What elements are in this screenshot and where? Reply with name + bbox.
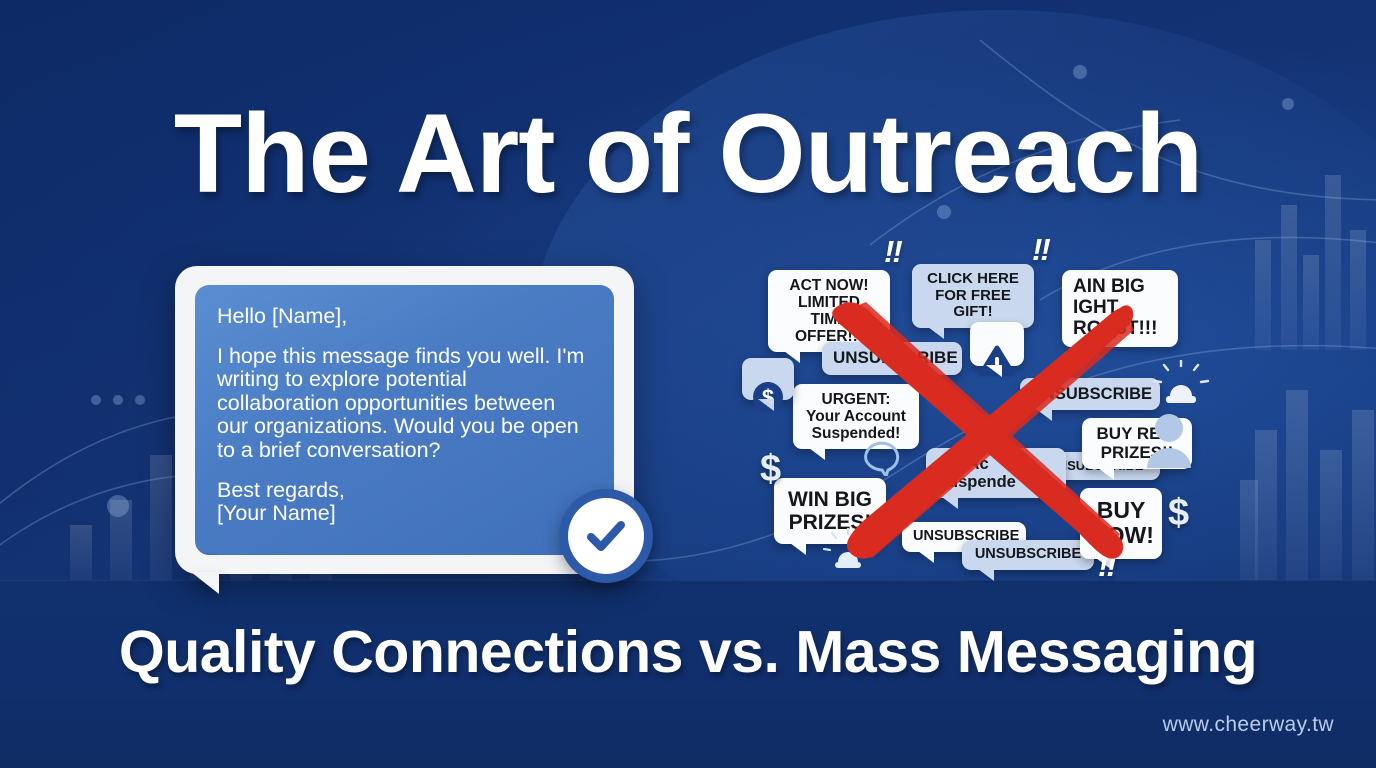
person-icon xyxy=(1142,412,1196,468)
dollar-sign-decoration: $ xyxy=(1168,492,1189,535)
red-x-icon xyxy=(820,290,1140,570)
dollar-sign-decoration: $ xyxy=(760,448,781,491)
dollar-icon: $ xyxy=(742,376,794,418)
svg-text:$: $ xyxy=(762,385,774,410)
spam-bubble-dollar: $ xyxy=(742,358,794,400)
exclamation-decoration: !! xyxy=(1032,232,1049,268)
check-icon xyxy=(580,510,632,562)
verified-badge xyxy=(559,489,653,583)
page-subtitle: Quality Connections vs. Mass Messaging xyxy=(0,618,1376,686)
exclamation-decoration: !! xyxy=(884,234,901,270)
page-title: The Art of Outreach xyxy=(0,98,1376,210)
message-signoff: Best regards, xyxy=(217,479,592,503)
message-greeting: Hello [Name], xyxy=(217,305,592,329)
poster-canvas: The Art of Outreach Hello [Name], I hope… xyxy=(0,0,1376,768)
website-url: www.cheerway.tw xyxy=(1163,713,1334,737)
message-signature: [Your Name] xyxy=(217,502,592,526)
message-bubble: Hello [Name], I hope this message finds … xyxy=(195,285,614,555)
siren-icon xyxy=(1150,360,1212,416)
message-body: I hope this message finds you well. I'm … xyxy=(217,345,592,463)
